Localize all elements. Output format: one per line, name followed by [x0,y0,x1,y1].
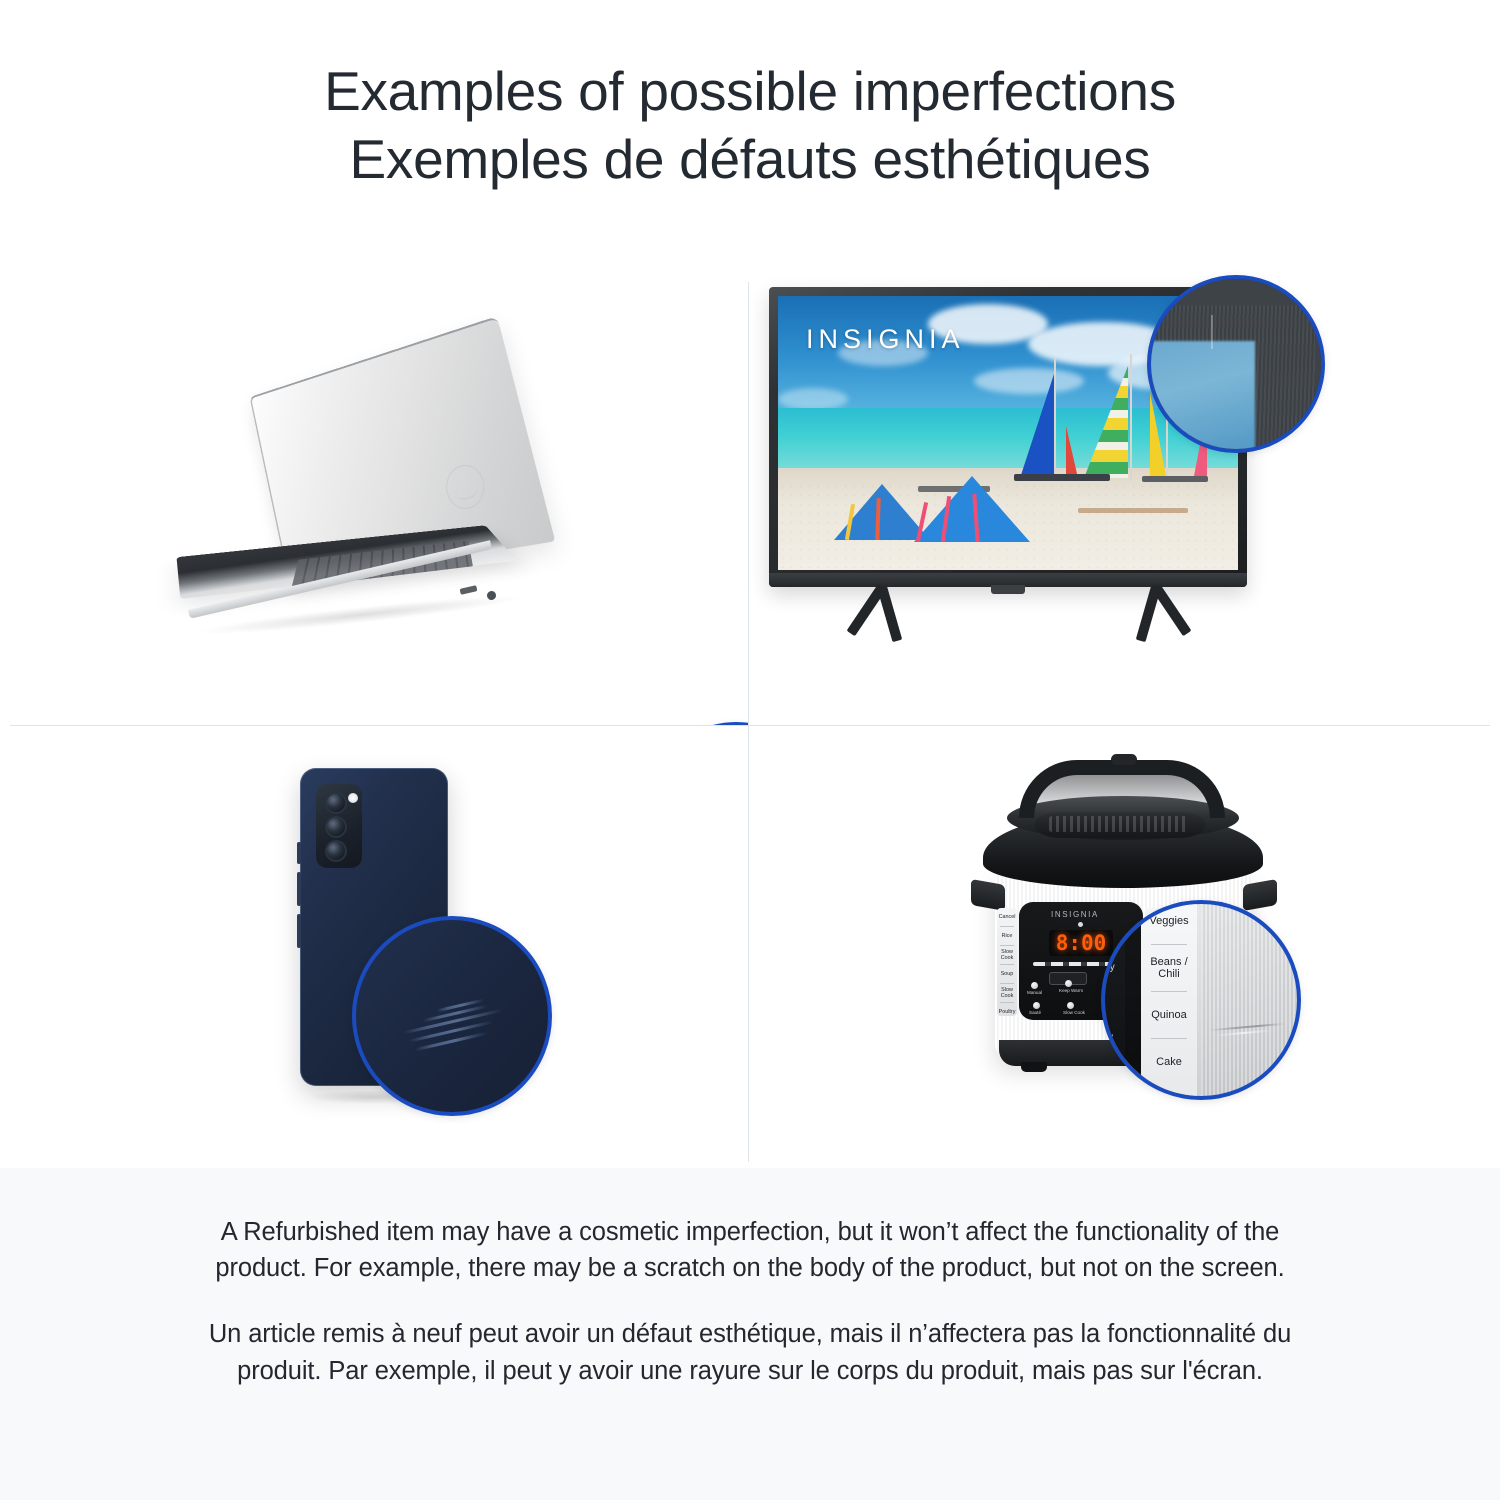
cooker-button-label: Soup [1001,971,1014,977]
magnifier-circle-cooker: Delay Slow Cook Veggies Beans / Chili Qu… [1101,900,1301,1100]
magnifier-circle-tv [1147,275,1325,453]
example-cell-pressure-cooker: INSIGNIA 8:00 Cancel Rice Slow Cook [749,726,1500,1168]
laptop-usb-port-icon [460,585,478,595]
cooker-magnified-label: Cake [1156,1056,1182,1068]
magnifier-circle-laptop [645,722,748,725]
cooker-small-label: Manual [1027,990,1042,995]
cooker-left-button-column[interactable]: Cancel Rice Slow Cook Soup Slow Cook Pou… [997,908,1017,1016]
magnifier-circle-phone [352,916,552,1116]
phone-side-button [297,842,301,864]
cooker-magnified-label: Veggies [1149,915,1188,927]
tv-screen-brand-text: INSIGNIA [806,324,965,355]
phone-camera-module [316,784,362,868]
cooker-indicator-led [1078,922,1083,927]
tv-leg [877,586,902,643]
cooker-magnified-button-column[interactable]: Veggies Beans / Chili Quinoa Cake [1141,900,1197,1100]
tv-magnified-area [1151,279,1321,449]
camera-lens-icon [325,840,347,862]
boat-hull [1078,508,1188,513]
camera-lens-icon [325,816,347,838]
phone-volume-button [297,914,301,948]
cooker-magnified-label: Beans / Chili [1141,956,1197,981]
example-cell-tv: INSIGNIA [749,252,1500,725]
tv-leg [1136,586,1161,643]
cooker-lid-text [1049,816,1189,832]
cooker-button-label: Slow Cook [998,987,1016,999]
camera-flash-icon [348,793,358,803]
phone-illustration [300,768,460,1118]
page-title-french: Exemples de défauts esthétiques [350,128,1151,190]
cooker-steam-valve-icon [1111,754,1137,765]
laptop-illustration [175,357,575,647]
cooker-panel-brand: INSIGNIA [1051,910,1099,919]
cooker-led-display: 8:00 [1049,930,1113,956]
tv-scuff-mark [1211,315,1213,349]
example-cell-phone [0,726,748,1168]
cooker-small-label: Sauté [1029,1010,1041,1015]
cooker-magnified-steel-body [1201,904,1301,1100]
cooker-carry-handle [1019,760,1225,818]
cooker-foot [1021,1062,1047,1072]
refurbished-imperfections-infographic: Examples of possible imperfections Exemp… [0,0,1500,1500]
footer-paragraph-english: A Refurbished item may have a cosmetic i… [185,1214,1315,1286]
phone-volume-button [297,872,301,906]
cooker-display-value: 8:00 [1056,931,1107,955]
cooker-magnified-label: Slow Cook [1101,1032,1125,1054]
cooker-button-label: Cancel [999,914,1016,920]
cooker-button-label: Slow Cook [998,949,1016,961]
cooker-small-label: Keep Warm [1059,988,1083,993]
cooker-magnified-label: Quinoa [1151,1009,1186,1021]
cooker-button-label: Poultry [999,1009,1016,1015]
examples-grid: INSIGNIA [0,252,1500,1168]
cloud [778,388,848,410]
page-header: Examples of possible imperfections Exemp… [0,0,1500,250]
beach-sail-foreground [914,476,1030,542]
cooker-magnified-dark-column: Delay Slow Cook [1101,904,1125,1100]
pressure-cooker-illustration: INSIGNIA 8:00 Cancel Rice Slow Cook [971,752,1301,1122]
cooker-small-button[interactable] [1067,1002,1074,1009]
tv-illustration: INSIGNIA [769,287,1269,657]
cooker-small-label: Slow Cook [1063,1010,1085,1015]
footer-paragraph-french: Un article remis à neuf peut avoir un dé… [185,1316,1315,1388]
sailboat-red [1066,426,1078,478]
cooker-small-button[interactable] [1033,1002,1040,1009]
boat-hull [1142,476,1208,482]
cooker-magnified-label: Delay [1101,962,1125,973]
tv-magnified-screen [1147,341,1255,453]
cooker-side-handle [971,879,1005,911]
cooker-button-label: Rice [1002,933,1013,939]
page-title-english: Examples of possible imperfections [324,60,1176,122]
sailboat-blue [1020,374,1054,478]
cooker-small-button[interactable] [1031,982,1038,989]
tv-ir-sensor-icon [991,585,1025,594]
cooker-small-button[interactable] [1065,980,1072,987]
example-cell-laptop [0,252,748,725]
camera-lens-icon [325,792,347,814]
footer-description: A Refurbished item may have a cosmetic i… [0,1168,1500,1500]
sail-mast [1054,358,1056,480]
sail-mast [1130,354,1132,480]
